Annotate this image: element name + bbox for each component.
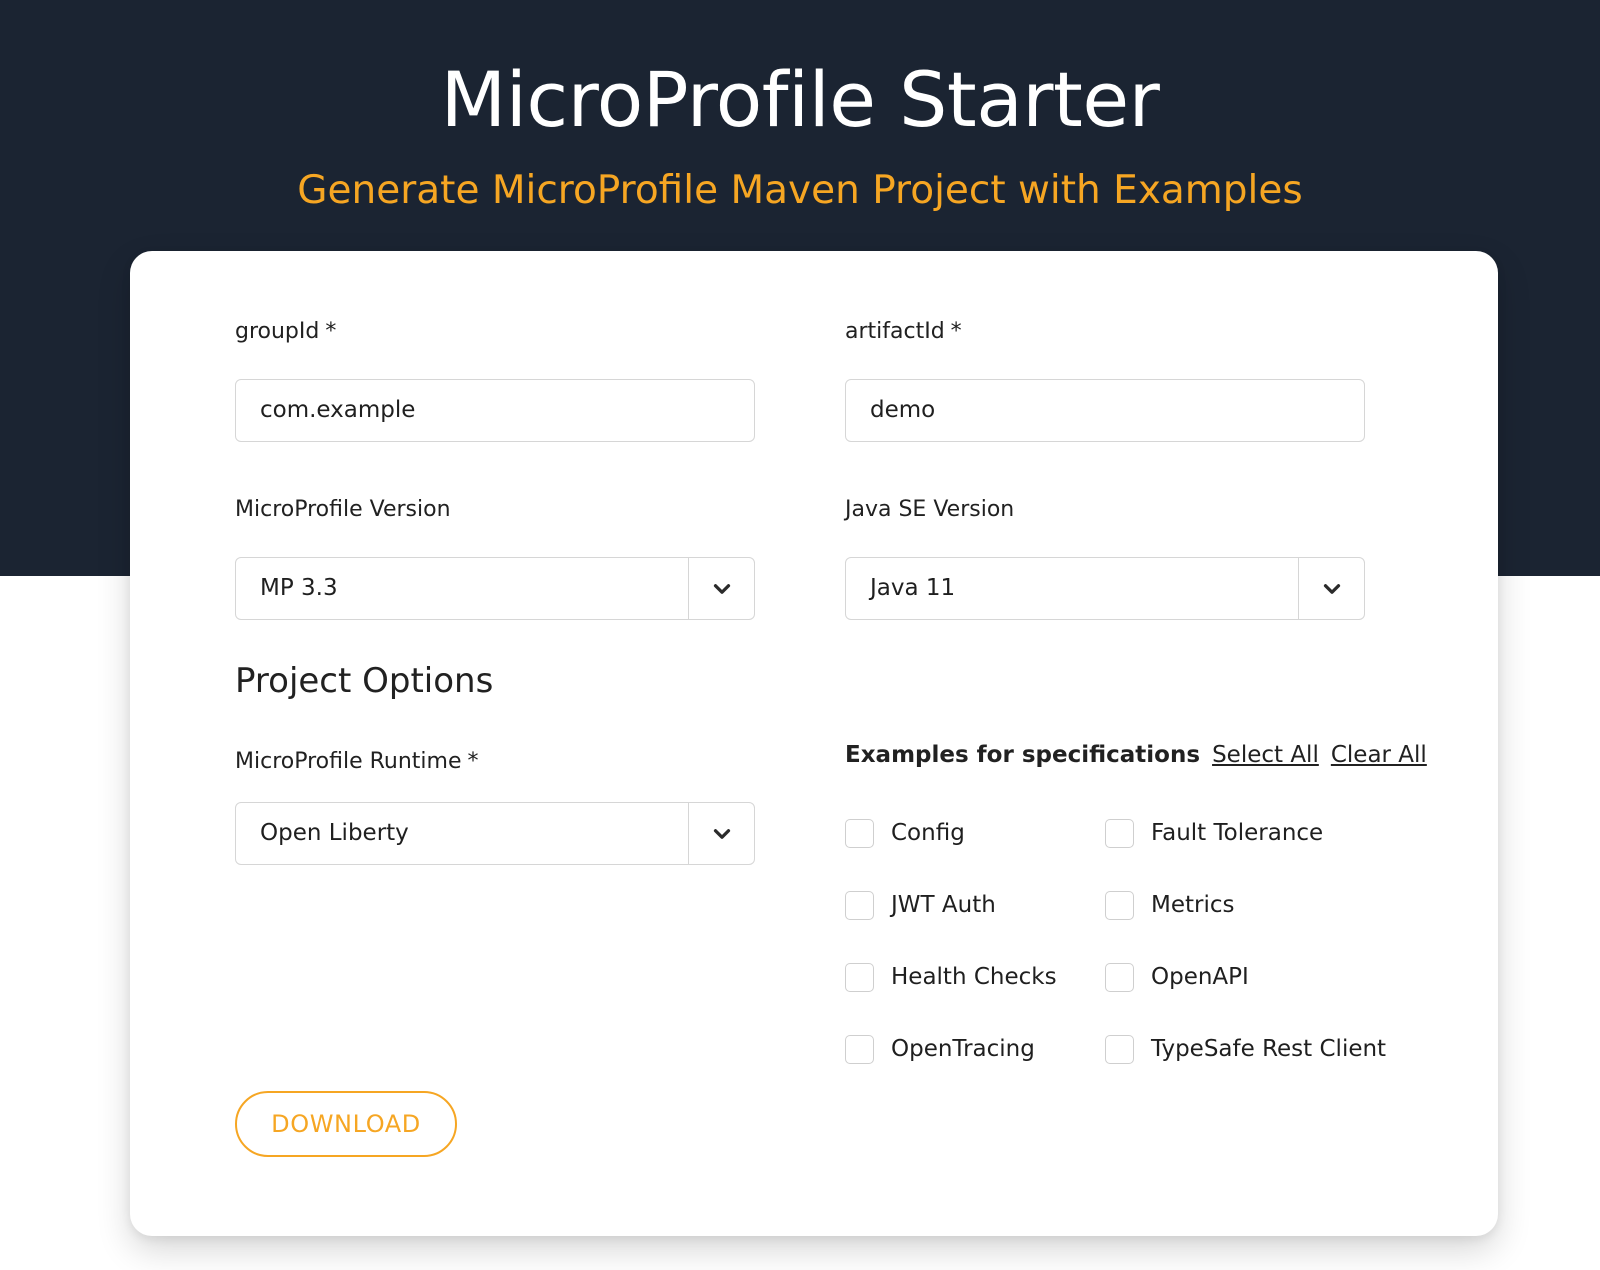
project-options-heading: Project Options [235, 664, 493, 698]
group-id-label-text: groupId [235, 319, 319, 344]
checkbox-icon[interactable] [1105, 891, 1134, 920]
chevron-down-icon[interactable] [688, 558, 754, 619]
spec-checkbox-item[interactable]: OpenAPI [1105, 941, 1365, 1013]
clear-all-link[interactable]: Clear All [1331, 744, 1427, 767]
microprofile-version-value: MP 3.3 [236, 558, 688, 619]
microprofile-version-label: MicroProfile Version [235, 499, 451, 521]
select-all-link[interactable]: Select All [1212, 744, 1319, 767]
artifact-id-input[interactable]: demo [845, 379, 1365, 442]
spec-checkbox-item[interactable]: Health Checks [845, 941, 1105, 1013]
spec-checkbox-item[interactable]: JWT Auth [845, 869, 1105, 941]
spec-label: TypeSafe Rest Client [1151, 1038, 1386, 1061]
microprofile-runtime-select[interactable]: Open Liberty [235, 802, 755, 865]
page-title: MicroProfile Starter [0, 62, 1600, 138]
java-se-version-select[interactable]: Java 11 [845, 557, 1365, 620]
microprofile-runtime-required-marker: * [468, 749, 479, 774]
microprofile-version-select[interactable]: MP 3.3 [235, 557, 755, 620]
artifact-id-required-marker: * [951, 319, 962, 344]
checkbox-icon[interactable] [845, 819, 874, 848]
spec-label: Fault Tolerance [1151, 822, 1323, 845]
form-card: groupId* com.example artifactId* demo Mi… [130, 251, 1498, 1236]
spec-label: OpenTracing [891, 1038, 1035, 1061]
group-id-required-marker: * [325, 319, 336, 344]
spec-label: Config [891, 822, 965, 845]
spec-checkbox-item[interactable]: Fault Tolerance [1105, 797, 1365, 869]
specifications-checkbox-grid: Config Fault Tolerance JWT Auth Metrics … [845, 797, 1405, 1085]
chevron-down-icon[interactable] [688, 803, 754, 864]
artifact-id-label: artifactId* [845, 321, 962, 343]
examples-header: Examples for specifications Select All C… [845, 744, 1427, 767]
download-button[interactable]: DOWNLOAD [235, 1091, 457, 1157]
java-se-version-label: Java SE Version [845, 499, 1014, 521]
group-id-value: com.example [260, 399, 415, 422]
spec-label: OpenAPI [1151, 966, 1249, 989]
group-id-label: groupId* [235, 321, 336, 343]
spec-label: Metrics [1151, 894, 1235, 917]
microprofile-runtime-label: MicroProfile Runtime* [235, 751, 479, 773]
spec-label: Health Checks [891, 966, 1057, 989]
spec-checkbox-item[interactable]: TypeSafe Rest Client [1105, 1013, 1365, 1085]
artifact-id-label-text: artifactId [845, 319, 945, 344]
microprofile-runtime-label-text: MicroProfile Runtime [235, 749, 462, 774]
microprofile-runtime-value: Open Liberty [236, 803, 688, 864]
checkbox-icon[interactable] [845, 891, 874, 920]
checkbox-icon[interactable] [845, 963, 874, 992]
spec-checkbox-item[interactable]: OpenTracing [845, 1013, 1105, 1085]
artifact-id-value: demo [870, 399, 935, 422]
spec-checkbox-item[interactable]: Metrics [1105, 869, 1365, 941]
group-id-input[interactable]: com.example [235, 379, 755, 442]
checkbox-icon[interactable] [1105, 819, 1134, 848]
java-se-version-label-text: Java SE Version [845, 497, 1014, 522]
page-subtitle: Generate MicroProfile Maven Project with… [0, 168, 1600, 215]
spec-checkbox-item[interactable]: Config [845, 797, 1105, 869]
checkbox-icon[interactable] [1105, 1035, 1134, 1064]
java-se-version-value: Java 11 [846, 558, 1298, 619]
page-root: MicroProfile Starter Generate MicroProfi… [0, 0, 1600, 1270]
examples-heading-text: Examples for specifications [845, 744, 1200, 767]
chevron-down-icon[interactable] [1298, 558, 1364, 619]
spec-label: JWT Auth [891, 894, 996, 917]
checkbox-icon[interactable] [1105, 963, 1134, 992]
checkbox-icon[interactable] [845, 1035, 874, 1064]
microprofile-version-label-text: MicroProfile Version [235, 497, 451, 522]
